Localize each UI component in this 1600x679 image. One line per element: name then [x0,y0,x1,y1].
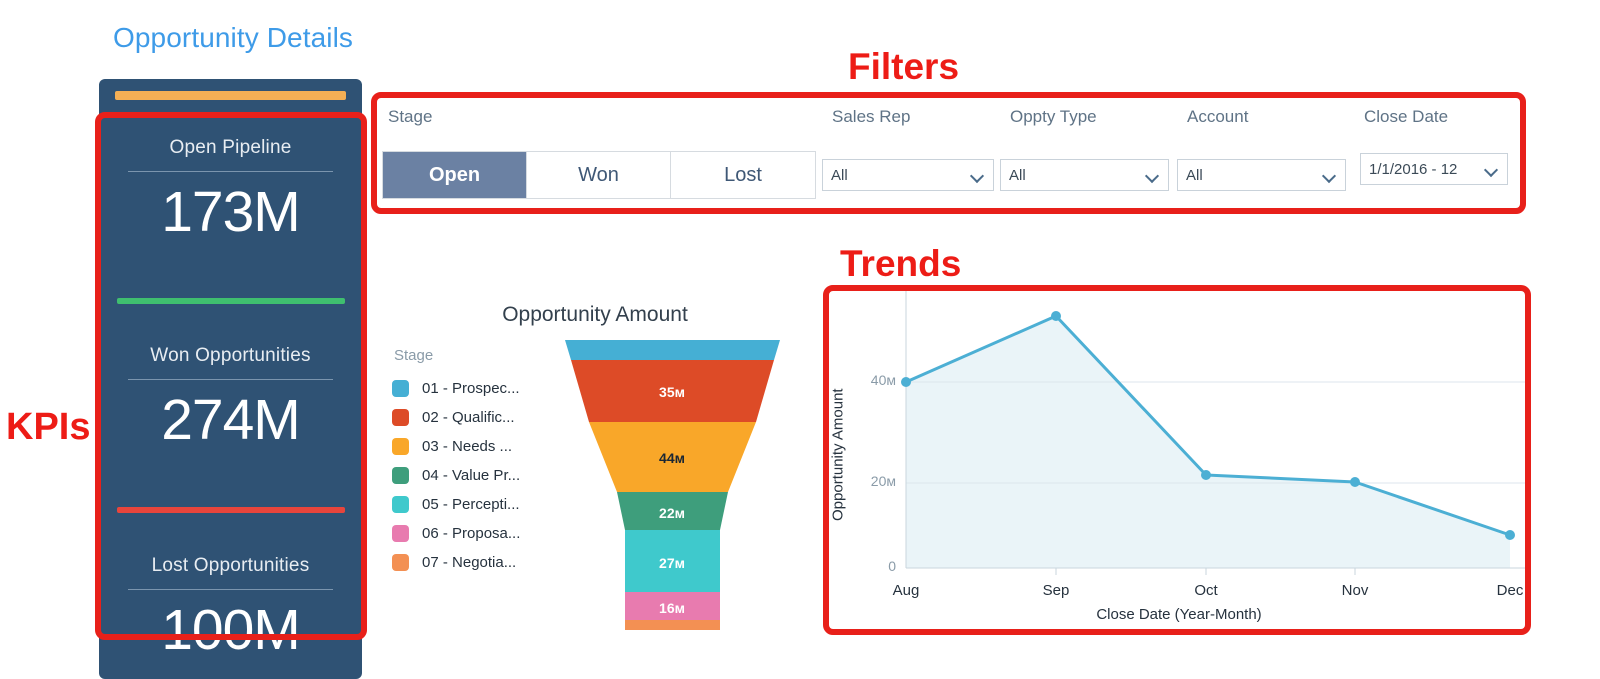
annotation-label-filters: Filters [848,46,959,88]
funnel-legend: Stage 01 - Prospec... 02 - Qualific... 0… [392,347,562,577]
chevron-down-icon [1146,168,1160,182]
trends-chart: Opportunity Amount 40м 20м 0 Aug Sep Oct… [826,290,1532,635]
annotation-label-kpis: KPIs [6,406,90,449]
trend-point-nov[interactable] [1350,477,1360,487]
trend-point-aug[interactable] [901,377,911,387]
filter-label-sales-rep: Sales Rep [832,107,910,127]
kpi-open-pipeline[interactable]: Open Pipeline 173M [99,137,362,241]
chevron-down-icon [971,168,985,182]
legend-swatch [392,438,409,455]
legend-swatch [392,554,409,571]
account-dropdown[interactable]: All [1177,159,1346,191]
funnel-graphic[interactable]: 35м 44м 22м 27м 16м 13м [565,340,780,630]
kpi-won-opportunities[interactable]: Won Opportunities 274M [99,345,362,449]
trend-point-dec[interactable] [1505,530,1515,540]
legend-title: Stage [392,347,562,364]
kpi-value: 274M [99,392,362,449]
funnel-chart: Opportunity Amount Stage 01 - Prospec...… [380,295,810,635]
kpi-panel: Open Pipeline 173M Won Opportunities 274… [99,79,362,679]
annotation-label-trends: Trends [840,243,961,285]
funnel-value-03: 44м [659,450,685,466]
legend-label: 06 - Proposa... [422,525,520,542]
kpi-title: Lost Opportunities [99,555,362,577]
legend-item[interactable]: 02 - Qualific... [392,403,562,432]
kpi-lost-opportunities[interactable]: Lost Opportunities 100M [99,555,362,659]
account-value: All [1186,167,1323,184]
kpi-value: 173M [99,184,362,241]
filter-label-account: Account [1187,107,1248,127]
dashboard-page: Opportunity Details Open Pipeline 173M W… [0,0,1600,658]
legend-label: 01 - Prospec... [422,380,520,397]
chevron-down-icon [1323,168,1337,182]
kpi-accent-bar [115,91,346,100]
close-date-dropdown[interactable]: 1/1/2016 - 12 [1360,153,1508,185]
legend-item[interactable]: 07 - Negotia... [392,548,562,577]
legend-item[interactable]: 03 - Needs ... [392,432,562,461]
trend-point-oct[interactable] [1201,470,1211,480]
legend-label: 04 - Value Pr... [422,467,520,484]
funnel-chart-title: Opportunity Amount [380,303,810,327]
legend-label: 05 - Percepti... [422,496,520,513]
legend-item[interactable]: 06 - Proposa... [392,519,562,548]
legend-item[interactable]: 04 - Value Pr... [392,461,562,490]
filter-label-stage: Stage [388,107,432,127]
funnel-value-06: 16м [659,600,685,616]
funnel-value-04: 22м [659,505,685,521]
kpi-divider [128,379,333,380]
trends-x-axis-label: Close Date (Year-Month) [826,606,1532,623]
legend-item[interactable]: 05 - Percepti... [392,490,562,519]
kpi-separator-green [117,298,345,304]
x-tick-oct: Oct [1176,582,1236,599]
trend-area-fill [906,316,1510,568]
legend-swatch [392,409,409,426]
close-date-value: 1/1/2016 - 12 [1369,161,1485,178]
oppty-type-dropdown[interactable]: All [1000,159,1169,191]
kpi-title: Open Pipeline [99,137,362,159]
stage-option-open[interactable]: Open [383,152,527,198]
filters-bar: Stage Sales Rep Oppty Type Account Close… [372,93,1525,213]
legend-swatch [392,380,409,397]
x-tick-sep: Sep [1026,582,1086,599]
stage-option-won[interactable]: Won [527,152,671,198]
kpi-divider [128,589,333,590]
filter-label-oppty-type: Oppty Type [1010,107,1097,127]
oppty-type-value: All [1009,167,1146,184]
kpi-separator-red [117,507,345,513]
kpi-value: 100M [99,602,362,659]
legend-label: 02 - Qualific... [422,409,515,426]
sales-rep-dropdown[interactable]: All [822,159,994,191]
funnel-value-07: 13м [659,627,685,630]
chevron-down-icon [1485,162,1499,176]
legend-label: 03 - Needs ... [422,438,512,455]
funnel-band-01[interactable] [565,340,780,360]
trends-plot-area[interactable] [826,290,1532,590]
funnel-value-05: 27м [659,555,685,571]
trend-point-sep[interactable] [1051,311,1061,321]
filter-label-close-date: Close Date [1364,107,1448,127]
funnel-value-02: 35м [659,384,685,400]
legend-swatch [392,496,409,513]
kpi-divider [128,171,333,172]
sales-rep-value: All [831,167,971,184]
stage-option-lost[interactable]: Lost [671,152,815,198]
stage-toggle-group[interactable]: Open Won Lost [382,151,816,199]
legend-item[interactable]: 01 - Prospec... [392,374,562,403]
legend-swatch [392,467,409,484]
x-tick-aug: Aug [876,582,936,599]
kpi-title: Won Opportunities [99,345,362,367]
x-tick-dec: Dec [1480,582,1540,599]
legend-label: 07 - Negotia... [422,554,516,571]
page-title: Opportunity Details [113,22,353,54]
legend-swatch [392,525,409,542]
x-tick-nov: Nov [1325,582,1385,599]
